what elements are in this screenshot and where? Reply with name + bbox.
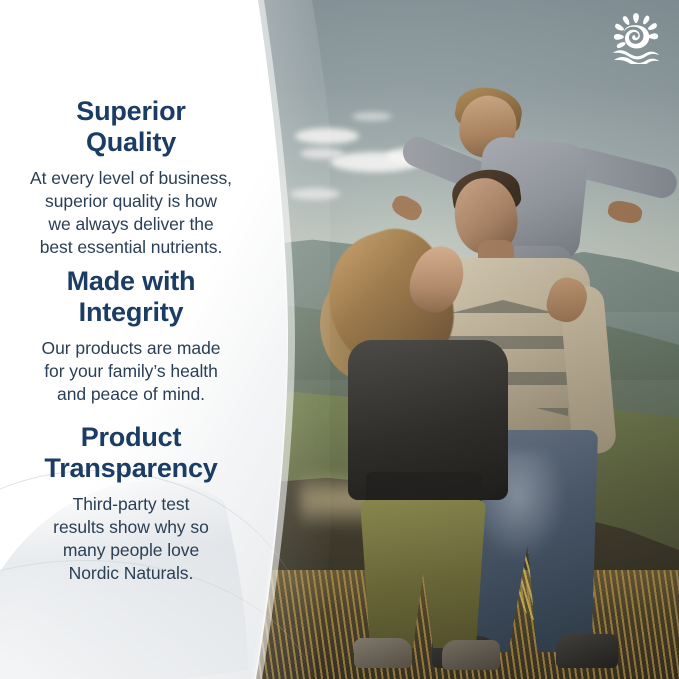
value-prop-body: At every level of business, superior qua…	[14, 167, 248, 259]
heading-line-2: Integrity	[14, 297, 248, 328]
body-line-4: Nordic Naturals.	[14, 562, 248, 585]
value-prop-heading: Product Transparency	[14, 422, 248, 484]
body-line-2: results show why so	[14, 516, 248, 539]
body-line-1: At every level of business,	[14, 167, 248, 190]
mother-right-shoe	[442, 640, 500, 670]
value-prop-body: Third-party test results show why so man…	[14, 493, 248, 585]
body-line-2: for your family’s health	[14, 360, 248, 383]
value-prop-made-with-integrity: Made with Integrity Our products are mad…	[0, 266, 262, 406]
body-line-2: superior quality is how	[14, 190, 248, 213]
father-right-shoe	[556, 634, 618, 668]
body-line-1: Third-party test	[14, 493, 248, 516]
heading-line-2: Quality	[14, 127, 248, 158]
value-prop-body: Our products are made for your family’s …	[14, 337, 248, 406]
value-prop-heading: Made with Integrity	[14, 266, 248, 328]
body-line-3: and peace of mind.	[14, 383, 248, 406]
mother-pants	[360, 500, 486, 648]
heading-line-1: Made with	[67, 266, 196, 296]
child-right-hand	[606, 199, 643, 226]
value-props-list: Superior Quality At every level of busin…	[0, 0, 262, 679]
value-prop-product-transparency: Product Transparency Third-party test re…	[0, 422, 262, 585]
body-line-3: we always deliver the	[14, 213, 248, 236]
brand-logo	[608, 12, 664, 64]
body-line-3: many people love	[14, 539, 248, 562]
value-prop-heading: Superior Quality	[14, 96, 248, 158]
child-left-hand	[389, 192, 425, 224]
heading-line-2: Transparency	[14, 453, 248, 484]
body-line-4: best essential nutrients.	[14, 236, 248, 259]
heading-line-1: Product	[81, 422, 182, 452]
value-prop-superior-quality: Superior Quality At every level of busin…	[0, 96, 262, 259]
heading-line-1: Superior	[76, 96, 185, 126]
promo-canvas: Superior Quality At every level of busin…	[0, 0, 679, 679]
body-line-1: Our products are made	[14, 337, 248, 360]
sun-waves-icon	[608, 12, 664, 64]
mother-left-shoe	[354, 638, 412, 668]
